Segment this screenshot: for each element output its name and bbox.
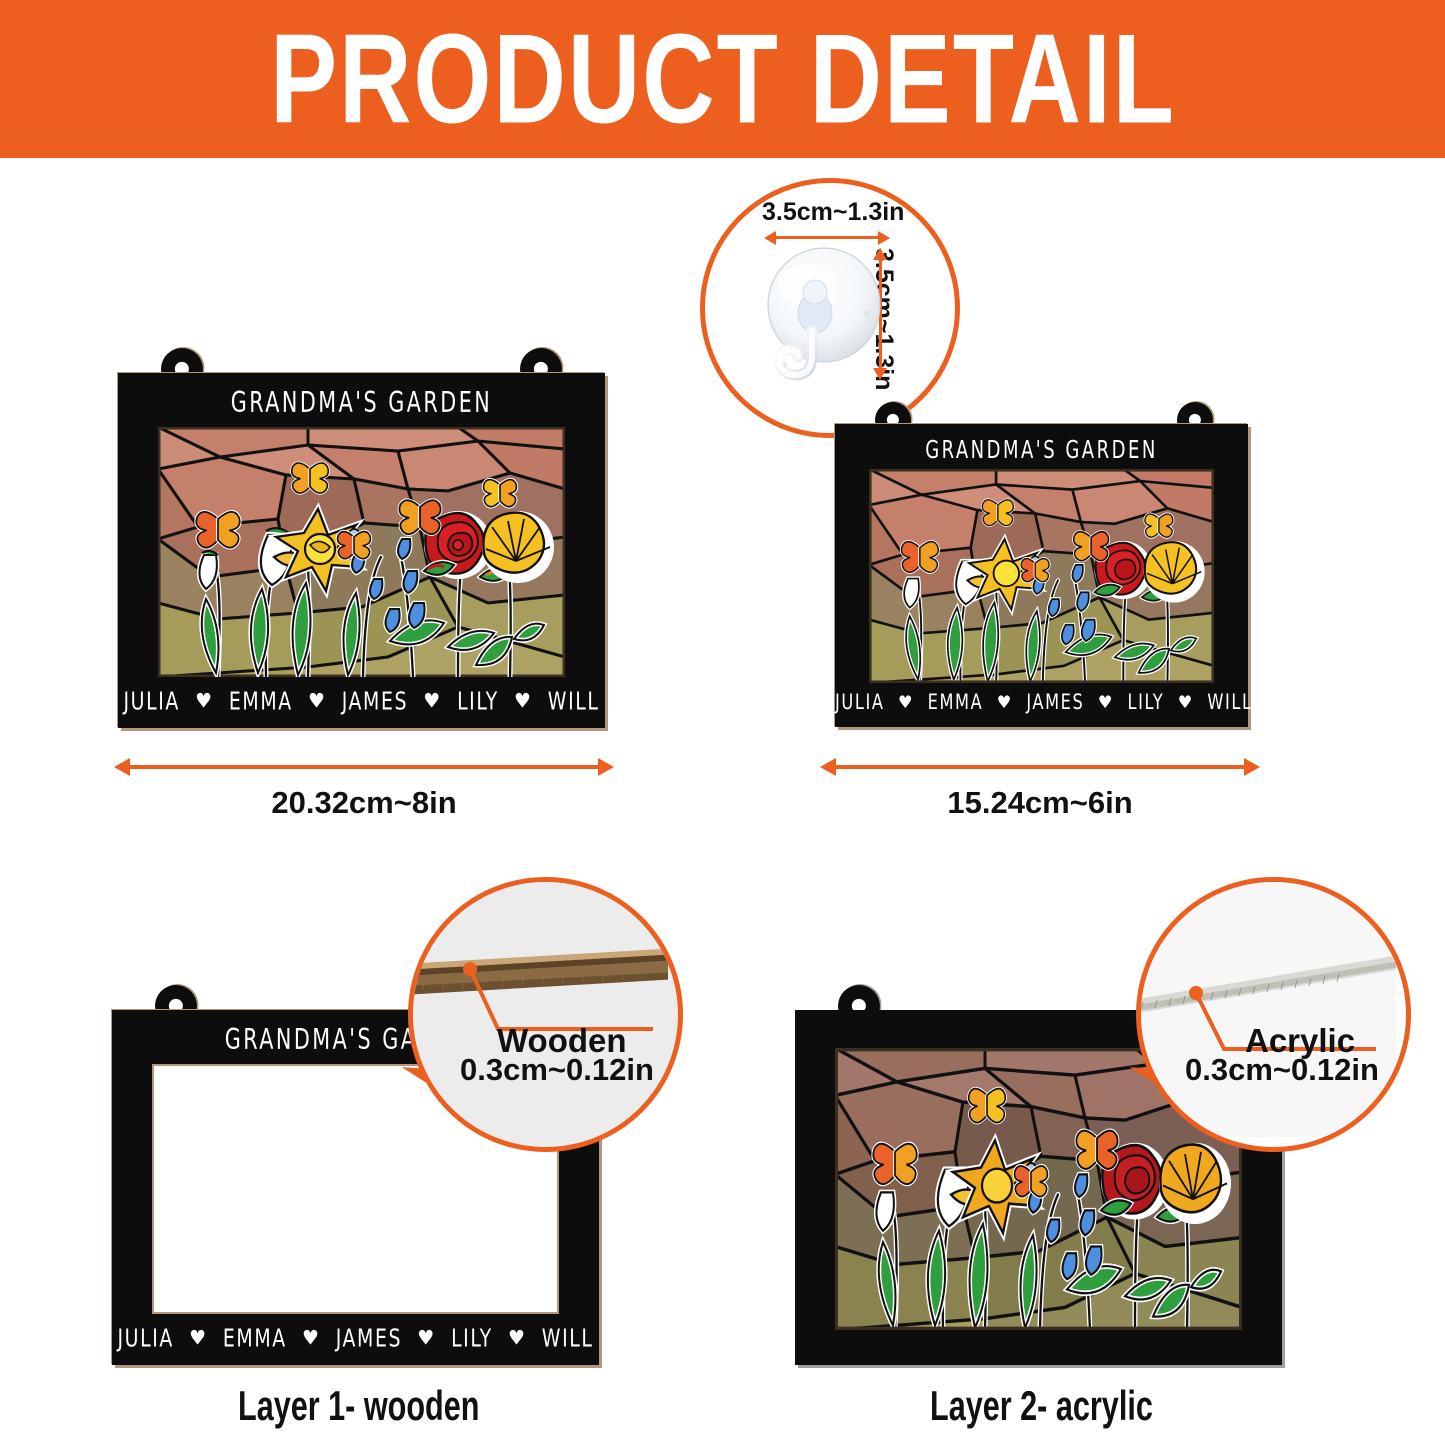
heart-icon: ♥ [182,1326,216,1349]
heart-icon: ♥ [410,1326,444,1349]
heart-icon: ♥ [506,689,540,712]
heart-icon: ♥ [990,692,1020,712]
name-2: JAMES [342,687,408,716]
wooden-detail-circle [408,877,683,1152]
name-1: EMMA [223,1324,287,1353]
page-header: PRODUCT DETAIL [0,0,1445,158]
acrylic-thickness-label: 0.3cm~0.12in [1185,1052,1379,1088]
name-3: LILY [451,1324,493,1353]
heart-icon: ♥ [416,689,450,712]
acrylic-detail-circle [1136,877,1411,1152]
layer-1-caption: Layer 1- wooden [238,1382,479,1430]
size-small-arrow: 15.24cm~6in [820,765,1260,785]
name-4: WILL [1207,690,1252,715]
name-0: JULIA [118,1324,174,1353]
frame-names: JULIA ♥ EMMA ♥ JAMES ♥ LILY ♥ WILL [835,690,1248,715]
wooden-leader-dot [463,962,477,976]
acrylic-leader-dot [1189,986,1203,1000]
layer-2-caption: Layer 2- acrylic [930,1382,1153,1430]
page-title: PRODUCT DETAIL [270,15,1176,142]
garden-artwork [869,469,1214,683]
suction-cup-hook-icon [752,243,912,403]
heart-icon: ♥ [1171,692,1201,712]
name-3: LILY [457,687,499,716]
name-1: EMMA [229,687,293,716]
heart-icon: ♥ [300,689,334,712]
heart-icon: ♥ [1091,692,1121,712]
product-small: GRANDMA'S GARDEN [835,402,1255,732]
product-large: GRANDMA'S GARDEN [118,348,613,733]
size-large-arrow: 20.32cm~8in [114,765,614,785]
name-4: WILL [548,687,600,716]
name-0: JULIA [835,690,885,715]
frame-names: JULIA ♥ EMMA ♥ JAMES ♥ LILY ♥ WILL [112,1324,599,1353]
name-1: EMMA [928,690,984,715]
heart-icon: ♥ [891,692,921,712]
name-2: JAMES [336,1324,402,1353]
size-large-label: 20.32cm~8in [114,785,614,821]
heart-icon: ♥ [500,1326,534,1349]
frame-names: JULIA ♥ EMMA ♥ JAMES ♥ LILY ♥ WILL [118,687,605,716]
name-0: JULIA [124,687,180,716]
frame-body: GRANDMA'S GARDEN [118,373,605,728]
heart-icon: ♥ [294,1326,328,1349]
frame-body: GRANDMA'S GARDEN [835,424,1248,727]
frame-title: GRANDMA'S GARDEN [118,387,605,420]
name-3: LILY [1128,690,1165,715]
frame-title: GRANDMA'S GARDEN [835,434,1248,464]
name-2: JAMES [1026,690,1084,715]
garden-artwork [158,427,565,677]
wooden-thickness-label: 0.3cm~0.12in [460,1052,654,1088]
size-small-label: 15.24cm~6in [820,785,1260,821]
name-4: WILL [542,1324,594,1353]
hook-width-label: 3.5cm~1.3in [762,198,904,227]
heart-icon: ♥ [188,689,222,712]
